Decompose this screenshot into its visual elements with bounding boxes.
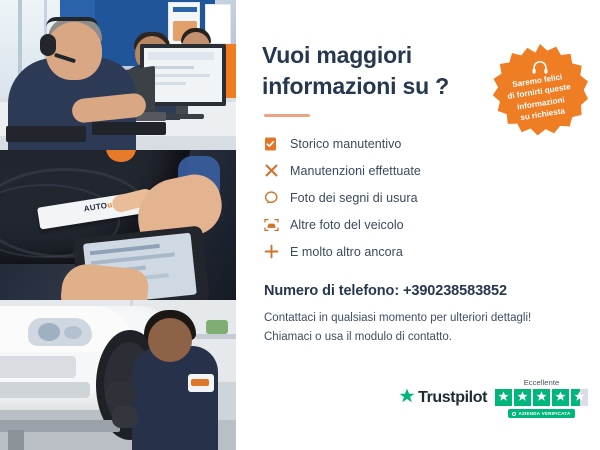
trustpilot-name: Trustpilot [418, 389, 487, 407]
feature-list: Storico manutentivo Manutenzioni effettu… [264, 130, 600, 265]
star-filled [514, 389, 531, 406]
garage-shelf [196, 334, 236, 339]
white-car-lower-grille [0, 382, 90, 398]
list-item-label: Altre foto del veicolo [290, 218, 404, 232]
white-car-headlight [28, 318, 92, 346]
star-filled [495, 389, 512, 406]
trustpilot-widget[interactable]: Trustpilot Eccellente AZIENDA VERIFICATA [399, 378, 588, 418]
contact-subtext: Contattaci in qualsiasi momento per ulte… [264, 309, 600, 346]
list-item-label: E molto altro ancora [290, 245, 403, 259]
speech-bubble-icon [264, 191, 290, 205]
plus-icon [264, 244, 290, 259]
trustpilot-rating: Eccellente AZIENDA VERIFICATA [495, 378, 588, 418]
keyboard-left [6, 126, 86, 142]
list-item-label: Storico manutentivo [290, 137, 401, 151]
status-badge: AZIENDA VERIFICATA [508, 409, 574, 418]
list-item-label: Foto dei segni di usura [290, 191, 418, 205]
contact-subtext-line-1: Contattaci in qualsiasi momento per ulte… [264, 312, 531, 324]
document-check-icon [264, 137, 290, 151]
phone-line: Numero di telefono: +390238583852 [264, 283, 600, 299]
list-item: Foto dei segni di usura [264, 184, 600, 211]
phone-number[interactable]: +390238583852 [403, 283, 507, 299]
monitor-base [160, 114, 204, 119]
star-filled [552, 389, 569, 406]
phone-label: Numero di telefono: [264, 283, 403, 299]
keyboard-front [92, 122, 166, 135]
headline-line-2: informazioni su ? [262, 73, 449, 99]
contact-subtext-line-2: Chiamaci o usa il modulo di contatto. [264, 331, 452, 343]
mechanic-wheel-photo [0, 300, 236, 450]
list-item-label: Manutenzioni effettuate [290, 164, 421, 178]
title-divider [264, 114, 310, 117]
car-lift-leg [8, 430, 24, 450]
call-center-photo [0, 0, 236, 150]
star-filled [533, 389, 550, 406]
wrench-cross-icon [264, 163, 290, 178]
mechanic-head [148, 318, 192, 362]
agent-headset-earpiece [40, 34, 56, 56]
mechanic-glove-upper [106, 382, 136, 408]
agent-headset-band [46, 17, 98, 27]
verified-check-icon [512, 412, 516, 416]
trustpilot-rating-label: Eccellente [524, 378, 560, 387]
car-frame-icon [264, 218, 290, 232]
list-item: E molto altro ancora [264, 238, 600, 265]
promo-banner: AUTOuncle [0, 0, 600, 450]
star-half [571, 389, 588, 406]
car-inspection-photo: AUTOuncle [0, 150, 236, 300]
white-car-grille [0, 356, 76, 378]
mechanic-uniform-logo [188, 374, 214, 392]
list-item: Manutenzioni effettuate [264, 157, 600, 184]
callout-badge: Saremo felici di fornirti queste informa… [492, 44, 588, 140]
headline-line-1: Vuoi maggiori [262, 42, 412, 68]
mechanic-glove-lower [112, 406, 138, 428]
garage-green-item [206, 320, 228, 334]
trustpilot-logo: Trustpilot [399, 388, 487, 409]
trustpilot-stars [495, 389, 588, 406]
content-panel: Vuoi maggiori informazioni su ? Storico … [236, 0, 600, 450]
verified-label: AZIENDA VERIFICATA [518, 411, 570, 416]
trustpilot-star-icon [399, 388, 415, 409]
list-item: Altre foto del veicolo [264, 211, 600, 238]
photo-column: AUTOuncle [0, 0, 236, 450]
